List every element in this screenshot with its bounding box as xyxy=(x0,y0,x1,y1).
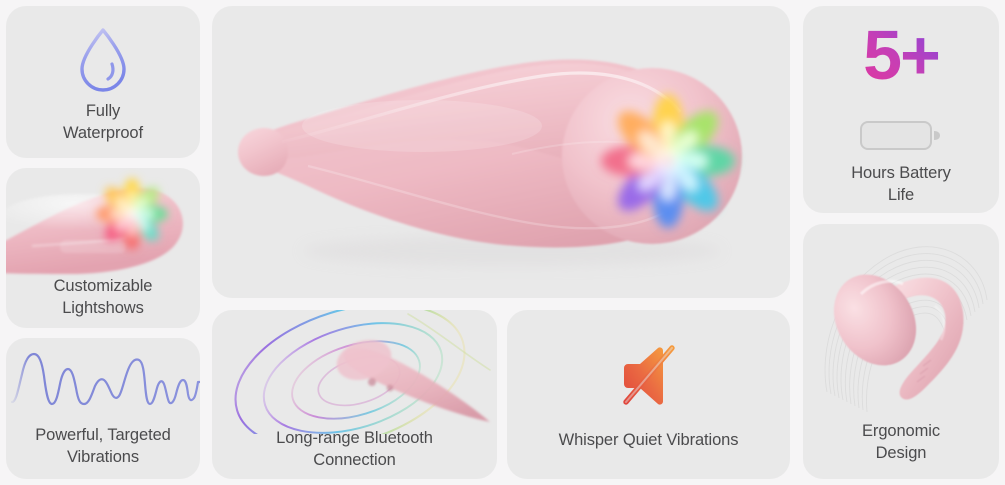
battery-hours-value: 5+ xyxy=(803,20,999,90)
wireless-signal-rings-graphic xyxy=(222,310,497,434)
water-droplet-icon xyxy=(6,24,200,96)
vibration-waveform-graphic xyxy=(10,344,200,416)
device-curved-shape-image xyxy=(803,228,999,424)
feature-card-ergonomic: ErgonomicDesign xyxy=(803,224,999,479)
feature-card-quiet: Whisper Quiet Vibrations xyxy=(507,310,790,479)
feature-card-battery: 5+ Hours BatteryLife xyxy=(803,6,999,213)
muted-speaker-icon xyxy=(507,334,790,412)
product-hero-image xyxy=(212,6,790,298)
feature-grid: FullyWaterproof xyxy=(0,0,1005,485)
feature-card-lightshows: CustomizableLightshows xyxy=(6,168,200,328)
feature-card-vibrations-label: Powerful, TargetedVibrations xyxy=(6,425,200,469)
feature-card-vibrations: Powerful, TargetedVibrations xyxy=(6,338,200,479)
feature-card-waterproof: FullyWaterproof xyxy=(6,6,200,158)
device-led-closeup-image xyxy=(6,168,200,282)
feature-card-waterproof-label: FullyWaterproof xyxy=(6,101,200,145)
battery-outline-icon xyxy=(803,116,999,154)
feature-card-ergonomic-label: ErgonomicDesign xyxy=(803,421,999,465)
feature-card-quiet-label: Whisper Quiet Vibrations xyxy=(507,430,790,452)
feature-card-bluetooth-label: Long-range BluetoothConnection xyxy=(212,428,497,472)
feature-card-hero xyxy=(212,6,790,298)
feature-card-bluetooth: Long-range BluetoothConnection xyxy=(212,310,497,479)
feature-card-battery-label: Hours BatteryLife xyxy=(803,163,999,207)
feature-card-lightshows-label: CustomizableLightshows xyxy=(6,276,200,320)
